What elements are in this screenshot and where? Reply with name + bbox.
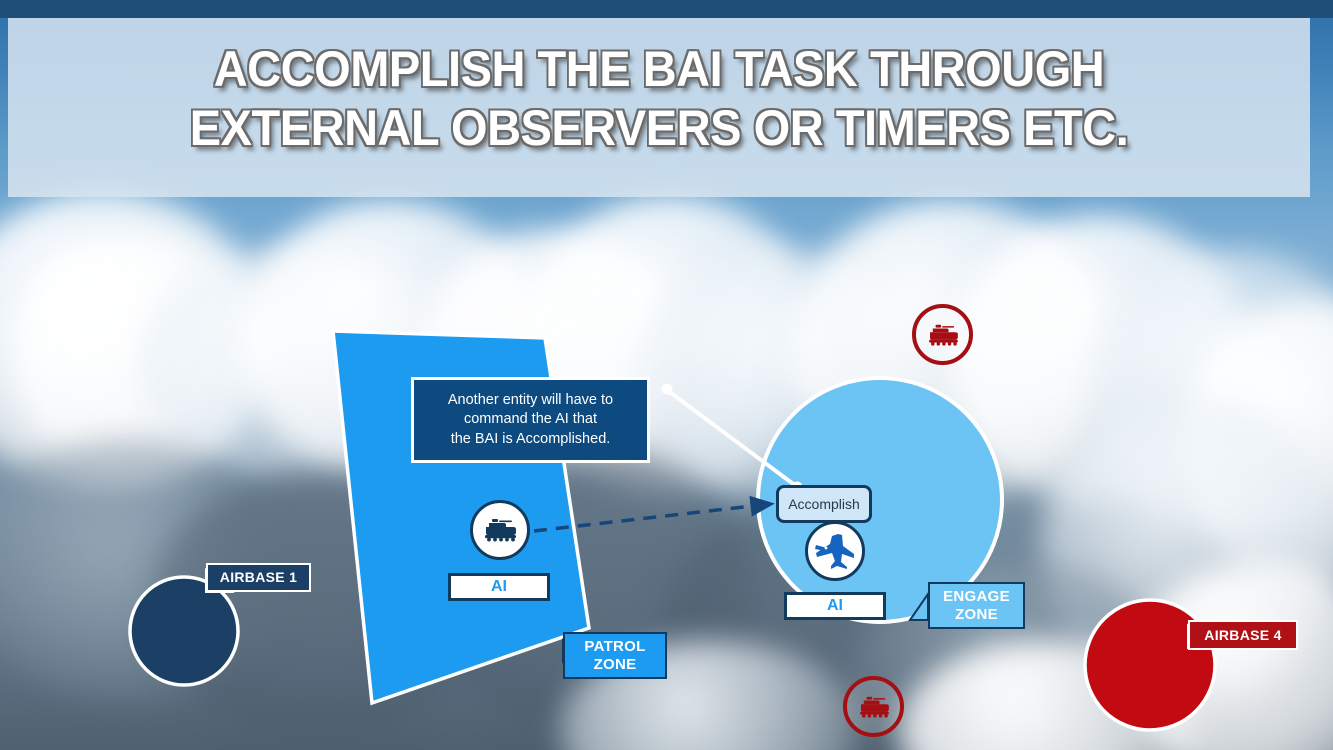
enemy-tank-icon[interactable] xyxy=(912,304,973,365)
fighter-jet-icon[interactable] xyxy=(805,521,865,581)
callout-text: Another entity will have to command the … xyxy=(448,391,613,448)
airbase-1-shape[interactable] xyxy=(130,577,238,685)
engage-zone-label[interactable]: ENGAGE ZONE xyxy=(928,582,1025,629)
tank-icon[interactable] xyxy=(470,500,530,560)
callout-box[interactable]: Another entity will have to command the … xyxy=(411,377,650,463)
fighter-jet-icon-glyph xyxy=(814,532,856,570)
enemy-tank-icon-glyph xyxy=(854,694,894,720)
airbase-1-label[interactable]: AIRBASE 1 xyxy=(206,563,311,592)
accomplish-task-node[interactable]: Accomplish xyxy=(776,485,872,523)
airbase-4-label[interactable]: AIRBASE 4 xyxy=(1188,620,1298,650)
ai-unit-label-right[interactable]: AI xyxy=(784,592,886,620)
enemy-tank-icon-glyph xyxy=(923,322,963,348)
enemy-tank-icon[interactable] xyxy=(843,676,904,737)
patrol-zone-label[interactable]: PATROL ZONE xyxy=(563,632,667,679)
slide-canvas: ACCOMPLISH THE BAI TASK THROUGH EXTERNAL… xyxy=(0,0,1333,750)
leader-line-start-dot xyxy=(662,384,673,395)
ai-unit-label-left[interactable]: AI xyxy=(448,573,550,601)
tank-icon-glyph xyxy=(480,516,520,544)
